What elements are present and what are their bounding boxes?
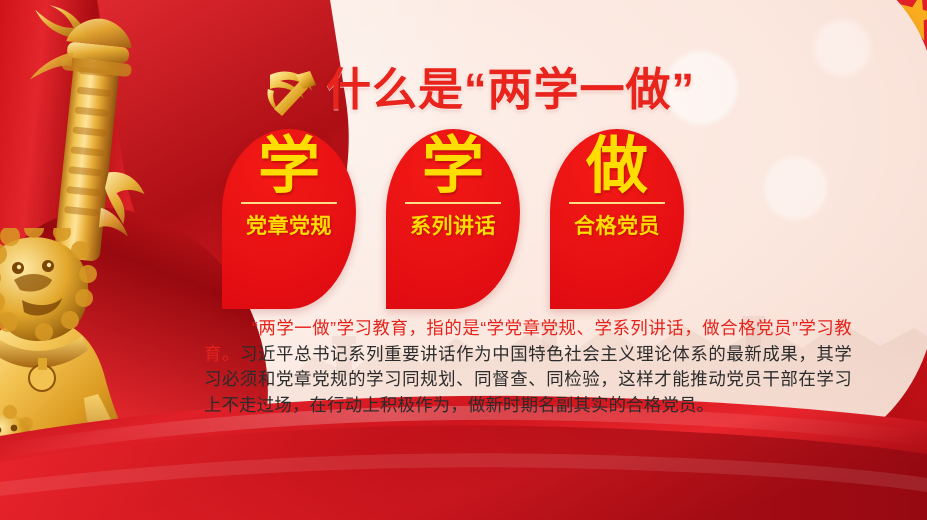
pillar-card[interactable]: 学 党章党规 xyxy=(222,129,356,309)
body-paragraph: “两学一做”学习教育，指的是“学党章党规、学系列讲话，做合格党员”学习教育。习近… xyxy=(204,316,852,418)
card-subtitle: 系列讲话 xyxy=(410,210,496,240)
card-headline: 学 xyxy=(258,135,320,198)
card-subtitle: 合格党员 xyxy=(574,210,660,240)
card-divider xyxy=(241,202,337,204)
card-headline: 学 xyxy=(422,135,484,198)
card-headline: 做 xyxy=(586,135,648,198)
body-segment-plain: 习近平总书记系列重要讲话作为中国特色社会主义理论体系的最新成果，其学习必须和党章… xyxy=(204,344,852,415)
card-divider xyxy=(405,202,501,204)
title-text: 什么是“两学一做” xyxy=(326,67,695,112)
pillar-card[interactable]: 做 合格党员 xyxy=(550,129,684,309)
hammer-and-sickle-icon xyxy=(262,61,316,117)
card-divider xyxy=(569,202,665,204)
slide-title: 什么是“两学一做” xyxy=(262,57,695,121)
card-subtitle: 党章党规 xyxy=(246,210,332,240)
pillar-card[interactable]: 学 系列讲话 xyxy=(386,129,520,309)
slide-canvas: 什么是“两学一做” 学 党章党规 学 系列讲话 做 合格党员 “两学一做”学习教… xyxy=(0,0,927,520)
pillar-card-group: 学 党章党规 学 系列讲话 做 合格党员 xyxy=(222,129,867,309)
